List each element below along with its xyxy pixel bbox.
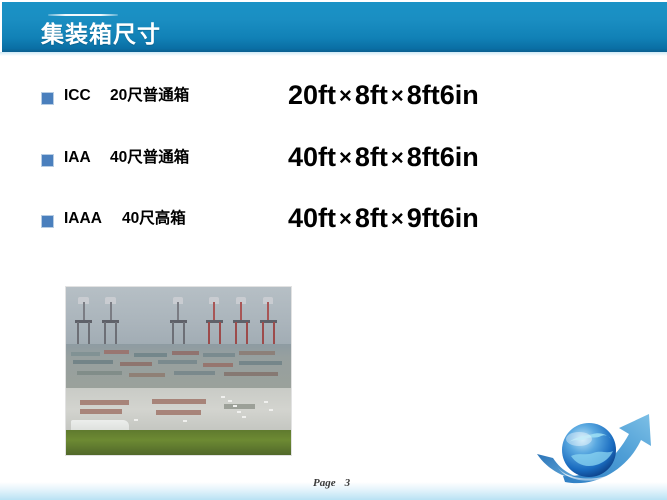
multiply-sign: × xyxy=(336,206,355,231)
container-description: 20尺普通箱 xyxy=(110,83,189,109)
dimension-width: 8ft xyxy=(355,142,388,172)
container-code: IAAA xyxy=(64,207,102,231)
page-number: 3 xyxy=(336,477,351,489)
logo-globe-highlight xyxy=(566,432,592,446)
container-code: IAA xyxy=(64,146,91,170)
dimension-length: 40ft xyxy=(288,203,336,233)
container-dimension: 20ft×8ft×8ft6in xyxy=(288,73,479,119)
multiply-sign: × xyxy=(336,145,355,170)
photo-cranes xyxy=(66,290,291,350)
page-title: 集装箱尺寸 xyxy=(41,19,161,49)
multiply-sign: × xyxy=(388,206,407,231)
multiply-sign: × xyxy=(388,83,407,108)
container-dimension: 40ft×8ft×9ft6in xyxy=(288,196,479,242)
page-number-label: Page3 xyxy=(313,477,350,489)
square-bullet-icon xyxy=(41,92,54,105)
header-underglow xyxy=(0,52,667,56)
container-code: ICC xyxy=(64,84,91,108)
dimension-width: 8ft xyxy=(355,203,388,233)
dimension-height: 8ft6in xyxy=(407,80,479,110)
dimension-height: 8ft6in xyxy=(407,142,479,172)
dimension-width: 8ft xyxy=(355,80,388,110)
logo-globe xyxy=(562,423,616,477)
dimension-length: 20ft xyxy=(288,80,336,110)
page-word: Page xyxy=(313,477,336,489)
multiply-sign: × xyxy=(388,145,407,170)
multiply-sign: × xyxy=(336,83,355,108)
slide-root: 集装箱尺寸 ICC 20尺普通箱 20ft×8ft×8ft6in IAA 40尺… xyxy=(0,0,667,500)
container-description: 40尺普通箱 xyxy=(110,145,189,171)
square-bullet-icon xyxy=(41,154,54,167)
photo-container-stacks xyxy=(66,344,291,389)
dimension-height: 9ft6in xyxy=(407,203,479,233)
globe-arrow-logo xyxy=(523,398,663,494)
list-item: IAAA 40尺高箱 40ft×8ft×9ft6in xyxy=(0,203,667,247)
dimension-length: 40ft xyxy=(288,142,336,172)
slide-header: 集装箱尺寸 xyxy=(0,0,667,52)
container-port-photo xyxy=(65,286,292,456)
title-rule xyxy=(48,14,118,16)
square-bullet-icon xyxy=(41,215,54,228)
photo-grass xyxy=(66,430,291,455)
list-item: ICC 20尺普通箱 20ft×8ft×8ft6in xyxy=(0,80,667,124)
container-dimension: 40ft×8ft×8ft6in xyxy=(288,135,479,181)
list-item: IAA 40尺普通箱 40ft×8ft×8ft6in xyxy=(0,142,667,186)
container-description: 40尺高箱 xyxy=(122,206,186,232)
